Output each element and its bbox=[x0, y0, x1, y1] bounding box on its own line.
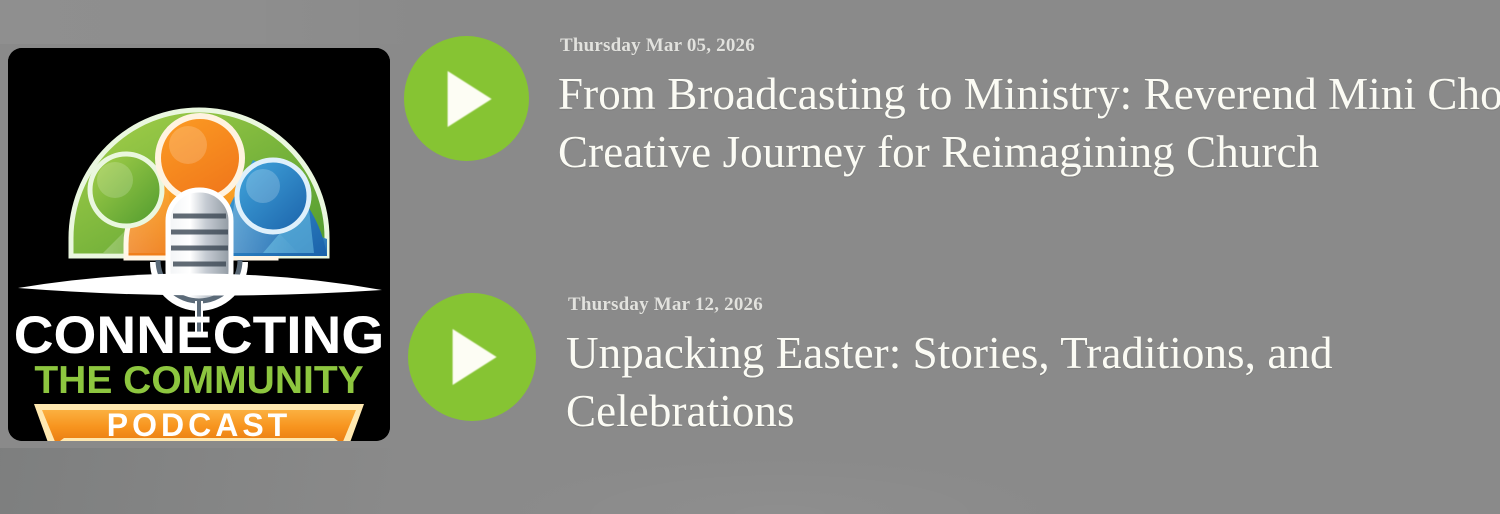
play-icon bbox=[447, 71, 491, 127]
background-highlight-bottom-center bbox=[480, 452, 1080, 514]
episode-title[interactable]: Unpacking Easter: Stories, Traditions, a… bbox=[566, 324, 1446, 440]
episode-text: Thursday Mar 12, 2026 Unpacking Easter: … bbox=[566, 294, 1466, 452]
background-highlight-top-left bbox=[0, 0, 430, 44]
play-button[interactable] bbox=[404, 36, 529, 161]
cover-line2: THE COMMUNITY bbox=[34, 359, 363, 402]
background-shadow-bottom-left bbox=[0, 448, 400, 514]
podcast-cover-art[interactable]: CONNECTING THE COMMUNITY PODCAST bbox=[8, 48, 390, 441]
episode-date: Thursday Mar 05, 2026 bbox=[560, 35, 1500, 57]
episode-title[interactable]: From Broadcasting to Ministry: Reverend … bbox=[558, 65, 1500, 181]
episode-date: Thursday Mar 12, 2026 bbox=[568, 294, 1466, 316]
play-icon bbox=[453, 329, 497, 385]
episode-text: Thursday Mar 05, 2026 From Broadcasting … bbox=[558, 35, 1500, 193]
cover-banner-text: PODCAST bbox=[107, 407, 291, 441]
play-button[interactable] bbox=[408, 293, 536, 421]
cover-line1: CONNECTING bbox=[14, 306, 384, 365]
episode-list-page: CONNECTING THE COMMUNITY PODCAST Thursda… bbox=[0, 0, 1500, 514]
cover-art-illustration: CONNECTING THE COMMUNITY PODCAST bbox=[8, 48, 390, 441]
